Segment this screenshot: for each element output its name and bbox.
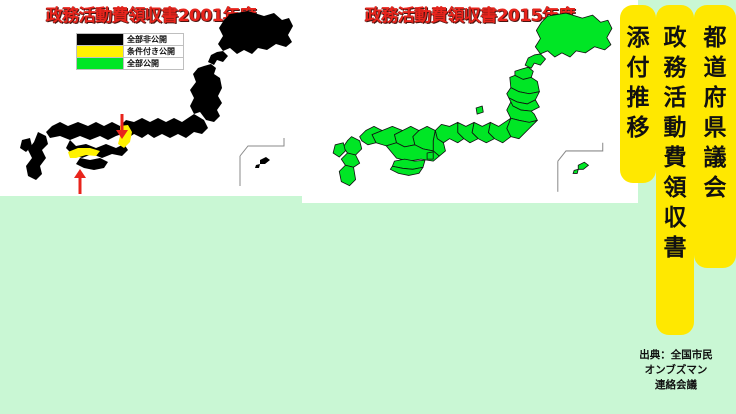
region-kyushu-south xyxy=(339,165,355,185)
source-line-1: 出典：全国市民 xyxy=(616,348,736,363)
region-okinawa-2 xyxy=(255,164,260,168)
region-kyushu-west xyxy=(333,143,345,157)
banner-column-right: 都道府県議会 xyxy=(694,5,736,268)
region-awaji xyxy=(427,152,433,159)
region-hokkaido xyxy=(218,11,293,54)
okinawa-inset-box xyxy=(558,143,603,161)
region-okinawa xyxy=(260,157,270,164)
region-kanto-south xyxy=(507,118,538,138)
japan-map-2015 xyxy=(306,10,636,202)
banner-text-left: 添付推移 xyxy=(620,23,656,143)
source-line-2: オンブズマン xyxy=(616,363,736,378)
slide-canvas: 政務活動費領収書2001年度 全部非公開 条件付き公開 全部公開 xyxy=(0,0,736,414)
region-oshima xyxy=(208,51,228,65)
region-kinki-chugoku xyxy=(46,122,122,140)
okinawa-inset-box xyxy=(240,138,284,156)
map-panel-2001: 政務活動費領収書2001年度 全部非公開 条件付き公開 全部公開 xyxy=(0,0,302,196)
japan-map-2001 xyxy=(8,8,302,196)
region-hokkaido xyxy=(535,13,612,57)
region-kyushu-north xyxy=(343,137,361,155)
map-panel-2015: 政務活動費領収書2015年度 全部非公開 条件付添付 全面添付 xyxy=(302,0,638,203)
banner-column-middle: 政務活動費領収書 xyxy=(656,5,694,335)
source-credit: 出典：全国市民 オンブズマン 連絡会議 xyxy=(616,348,736,393)
region-okinawa-2 xyxy=(573,169,578,173)
arrow-down-icon-kinki xyxy=(114,112,130,140)
banner-column-left: 添付推移 xyxy=(620,5,656,183)
banner-text-middle: 政務活動費領収書 xyxy=(656,23,694,263)
arrow-up-icon-shikoku xyxy=(72,168,88,196)
source-line-3: 連絡会議 xyxy=(616,378,736,393)
region-tohoku xyxy=(190,64,222,122)
banner-text-right: 都道府県議会 xyxy=(694,23,736,203)
region-oshima xyxy=(525,54,545,68)
region-sado xyxy=(476,106,483,114)
region-chubu-kanto xyxy=(120,114,208,138)
region-okinawa xyxy=(578,162,588,169)
region-kyushu-mid xyxy=(341,153,359,167)
